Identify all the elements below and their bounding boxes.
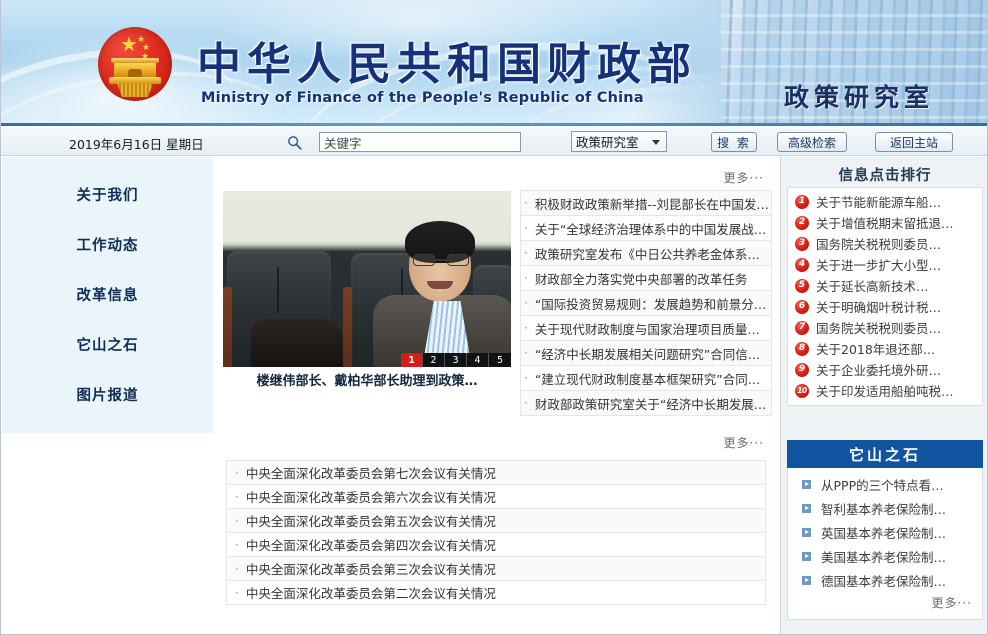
arrow-square-icon	[802, 480, 811, 489]
list-item[interactable]: 1 关于节能新能源车船…	[788, 191, 982, 212]
decor-chair-arm	[223, 287, 232, 368]
news-title: “建立现代财政制度基本框架研究”合同…	[535, 369, 760, 388]
sidebar-item-other-stone[interactable]: 它山之石	[2, 319, 213, 369]
stone-card: 它山之石 从PPP的三个特点看… 智利基本养老保险制… 英国基本养老保险制… 美…	[787, 440, 983, 620]
bullet-icon: ·	[235, 466, 239, 480]
feature-photo	[223, 191, 512, 368]
current-date: 2019年6月16日 星期日	[69, 134, 204, 153]
sidebar-item-reform-info[interactable]: 改革信息	[2, 269, 213, 319]
news-title: 财政部政策研究室关于“经济中长期发展…	[535, 394, 766, 413]
list-item[interactable]: · “建立现代财政制度基本框架研究”合同…	[521, 366, 771, 391]
banner-department-title: 政策研究室	[784, 78, 934, 114]
news-title: 政策研究室发布《中日公共养老金体系联…	[535, 244, 771, 263]
ranking-title-text: 关于进一步扩大小型…	[816, 255, 941, 274]
news-title: 财政部全力落实党中央部署的改革任务	[535, 269, 748, 288]
list-item[interactable]: 10 关于印发适用船舶吨税…	[788, 380, 982, 401]
ranking-list: 1 关于节能新能源车船… 2 关于增值税期末留抵退… 3 国务院关税税则委员… …	[787, 187, 983, 406]
search-scope-label: 政策研究室	[576, 132, 639, 151]
bullet-icon: ·	[235, 586, 239, 600]
ranking-title-text: 国务院关税税则委员…	[816, 318, 941, 337]
list-item[interactable]: 4 关于进一步扩大小型…	[788, 254, 982, 275]
rank-badge-icon: 6	[795, 300, 809, 314]
ranking-title-text: 关于印发适用船舶吨税…	[816, 381, 954, 400]
arrow-square-icon	[802, 576, 811, 585]
search-input[interactable]	[319, 132, 521, 152]
list-item[interactable]: 9 关于企业委托境外研…	[788, 359, 982, 380]
decor-coat	[251, 319, 343, 368]
list-item[interactable]: · 中央全面深化改革委员会第五次会议有关情况	[227, 509, 765, 533]
decor-person-glasses	[413, 254, 469, 266]
stone-item-text: 德国基本养老保险制…	[821, 571, 946, 590]
bullet-icon: ·	[524, 196, 528, 210]
arrow-square-icon	[802, 552, 811, 561]
ranking-title-text: 关于企业委托境外研…	[816, 360, 941, 379]
sidebar-item-work-updates[interactable]: 工作动态	[2, 219, 213, 269]
main-content: 更多··· 1 2 3 4	[214, 157, 778, 634]
arrow-square-icon	[802, 504, 811, 513]
bullet-icon: ·	[524, 221, 528, 235]
ranking-title-text: 关于增值税期末留抵退…	[816, 213, 954, 232]
rank-badge-icon: 1	[795, 195, 809, 209]
page-root: ★ ★ ★ ★ ★ 中华人民共和国财政部 Ministry of Finance…	[0, 0, 988, 635]
sidebar-nav: 关于我们 工作动态 改革信息 它山之石 图片报道	[2, 157, 213, 433]
national-emblem-icon: ★ ★ ★ ★ ★	[87, 16, 183, 112]
site-title-en: Ministry of Finance of the People's Repu…	[201, 90, 644, 106]
pagination-dot-5[interactable]: 5	[489, 353, 511, 367]
search-scope-select[interactable]: 政策研究室	[571, 131, 667, 152]
list-item[interactable]: · 中央全面深化改革委员会第七次会议有关情况	[227, 461, 765, 485]
list-item[interactable]: · 关于现代财政制度与国家治理项目质量监…	[521, 316, 771, 341]
return-home-button[interactable]: 返回主站	[875, 132, 953, 152]
ranking-title-text: 国务院关税税则委员…	[816, 234, 941, 253]
list-item[interactable]: · 中央全面深化改革委员会第四次会议有关情况	[227, 533, 765, 557]
bullet-icon: ·	[524, 296, 528, 310]
search-icon[interactable]	[287, 135, 302, 150]
feature-caption[interactable]: 楼继伟部长、戴柏华部长助理到政策…	[222, 370, 512, 389]
meeting-list: · 中央全面深化改革委员会第七次会议有关情况 · 中央全面深化改革委员会第六次会…	[226, 460, 766, 605]
list-item[interactable]: 从PPP的三个特点看…	[788, 472, 982, 496]
list-item[interactable]: 智利基本养老保险制…	[788, 496, 982, 520]
list-item[interactable]: · 中央全面深化改革委员会第六次会议有关情况	[227, 485, 765, 509]
pagination-dot-1[interactable]: 1	[401, 353, 423, 367]
bullet-icon: ·	[524, 271, 528, 285]
decor-person-mouth	[427, 281, 453, 289]
list-item[interactable]: 8 关于2018年退还部…	[788, 338, 982, 359]
pagination-dot-4[interactable]: 4	[467, 353, 489, 367]
chevron-down-icon	[652, 140, 660, 145]
stone-item-text: 英国基本养老保险制…	[821, 523, 946, 542]
advanced-search-button[interactable]: 高级检索	[777, 132, 847, 152]
rank-badge-icon: 4	[795, 258, 809, 272]
rank-badge-icon: 7	[795, 321, 809, 335]
list-item[interactable]: 英国基本养老保险制…	[788, 520, 982, 544]
bullet-icon: ·	[524, 346, 528, 360]
list-item[interactable]: · 财政部政策研究室关于“经济中长期发展…	[521, 391, 771, 416]
ranking-title-text: 关于节能新能源车船…	[816, 192, 941, 211]
feature-photo-card[interactable]: 1 2 3 4 5	[222, 190, 512, 368]
list-item[interactable]: 7 国务院关税税则委员…	[788, 317, 982, 338]
sidebar-item-about[interactable]: 关于我们	[2, 169, 213, 219]
site-banner: ★ ★ ★ ★ ★ 中华人民共和国财政部 Ministry of Finance…	[1, 0, 988, 126]
list-item[interactable]: · 中央全面深化改革委员会第二次会议有关情况	[227, 581, 765, 605]
news-title: 关于“全球经济治理体系中的中国发展战…	[535, 219, 766, 238]
arrow-square-icon	[802, 528, 811, 537]
list-item[interactable]: 3 国务院关税税则委员…	[788, 233, 982, 254]
more-link-stone[interactable]: 更多···	[788, 592, 982, 617]
rank-badge-icon: 10	[795, 384, 809, 398]
list-item[interactable]: 美国基本养老保险制…	[788, 544, 982, 568]
ranking-card: 信息点击排行 1 关于节能新能源车船… 2 关于增值税期末留抵退… 3 国务院关…	[787, 161, 983, 406]
list-item[interactable]: 5 关于延长高新技术…	[788, 275, 982, 296]
list-item[interactable]: 6 关于明确烟叶税计税…	[788, 296, 982, 317]
more-link-meetings[interactable]: 更多···	[724, 434, 764, 451]
stone-title: 它山之石	[787, 440, 983, 468]
meeting-title: 中央全面深化改革委员会第二次会议有关情况	[246, 583, 496, 602]
list-item[interactable]: · 积极财政政策新举措--刘昆部长在中国发…	[521, 191, 771, 216]
feature-pagination[interactable]: 1 2 3 4 5	[401, 353, 511, 367]
rank-badge-icon: 2	[795, 216, 809, 230]
news-title: 积极财政政策新举措--刘昆部长在中国发…	[535, 194, 769, 213]
bullet-icon: ·	[524, 396, 528, 410]
ranking-title: 信息点击排行	[787, 161, 983, 187]
ranking-title-text: 关于延长高新技术…	[816, 276, 929, 295]
site-title-cn: 中华人民共和国财政部	[197, 28, 697, 92]
search-button[interactable]: 搜 索	[711, 132, 757, 152]
news-title: “经济中长期发展相关问题研究”合同信…	[535, 344, 760, 363]
bullet-icon: ·	[524, 246, 528, 260]
stone-list: 从PPP的三个特点看… 智利基本养老保险制… 英国基本养老保险制… 美国基本养老…	[787, 468, 983, 620]
stone-item-text: 从PPP的三个特点看…	[821, 475, 944, 494]
stone-item-text: 智利基本养老保险制…	[821, 499, 946, 518]
news-list: · 积极财政政策新举措--刘昆部长在中国发… · 关于“全球经济治理体系中的中国…	[520, 190, 772, 416]
bullet-icon: ·	[235, 490, 239, 504]
meeting-title: 中央全面深化改革委员会第六次会议有关情况	[246, 487, 496, 506]
list-item[interactable]: 2 关于增值税期末留抵退…	[788, 212, 982, 233]
meeting-title: 中央全面深化改革委员会第七次会议有关情况	[246, 463, 496, 482]
pagination-dot-2[interactable]: 2	[423, 353, 445, 367]
list-item[interactable]: 德国基本养老保险制…	[788, 568, 982, 592]
sidebar-item-photo-news[interactable]: 图片报道	[2, 369, 213, 419]
pagination-dot-3[interactable]: 3	[445, 353, 467, 367]
meeting-title: 中央全面深化改革委员会第三次会议有关情况	[246, 559, 496, 578]
list-item[interactable]: · “经济中长期发展相关问题研究”合同信…	[521, 341, 771, 366]
news-title: 关于现代财政制度与国家治理项目质量监…	[535, 319, 771, 338]
bullet-icon: ·	[524, 321, 528, 335]
list-item[interactable]: · 中央全面深化改革委员会第三次会议有关情况	[227, 557, 765, 581]
bullet-icon: ·	[235, 514, 239, 528]
stone-item-text: 美国基本养老保险制…	[821, 547, 946, 566]
list-item[interactable]: · 关于“全球经济治理体系中的中国发展战…	[521, 216, 771, 241]
more-link-news[interactable]: 更多···	[724, 169, 764, 186]
rank-badge-icon: 5	[795, 279, 809, 293]
rank-badge-icon: 9	[795, 363, 809, 377]
ranking-title-text: 关于明确烟叶税计税…	[816, 297, 941, 316]
list-item[interactable]: · “国际投资贸易规则：发展趋势和前景分…	[521, 291, 771, 316]
rank-badge-icon: 8	[795, 342, 809, 356]
meeting-title: 中央全面深化改革委员会第五次会议有关情况	[246, 511, 496, 530]
rank-badge-icon: 3	[795, 237, 809, 251]
bullet-icon: ·	[235, 562, 239, 576]
meeting-title: 中央全面深化改革委员会第四次会议有关情况	[246, 535, 496, 554]
bullet-icon: ·	[524, 371, 528, 385]
banner-divider	[1, 123, 988, 126]
bullet-icon: ·	[235, 538, 239, 552]
list-item[interactable]: · 政策研究室发布《中日公共养老金体系联…	[521, 241, 771, 266]
ranking-title-text: 关于2018年退还部…	[816, 339, 935, 358]
list-item[interactable]: · 财政部全力落实党中央部署的改革任务	[521, 266, 771, 291]
right-sidebar: 信息点击排行 1 关于节能新能源车船… 2 关于增值税期末留抵退… 3 国务院关…	[780, 157, 988, 634]
decor-chair-arm	[343, 287, 352, 368]
news-title: “国际投资贸易规则：发展趋势和前景分…	[535, 294, 766, 313]
